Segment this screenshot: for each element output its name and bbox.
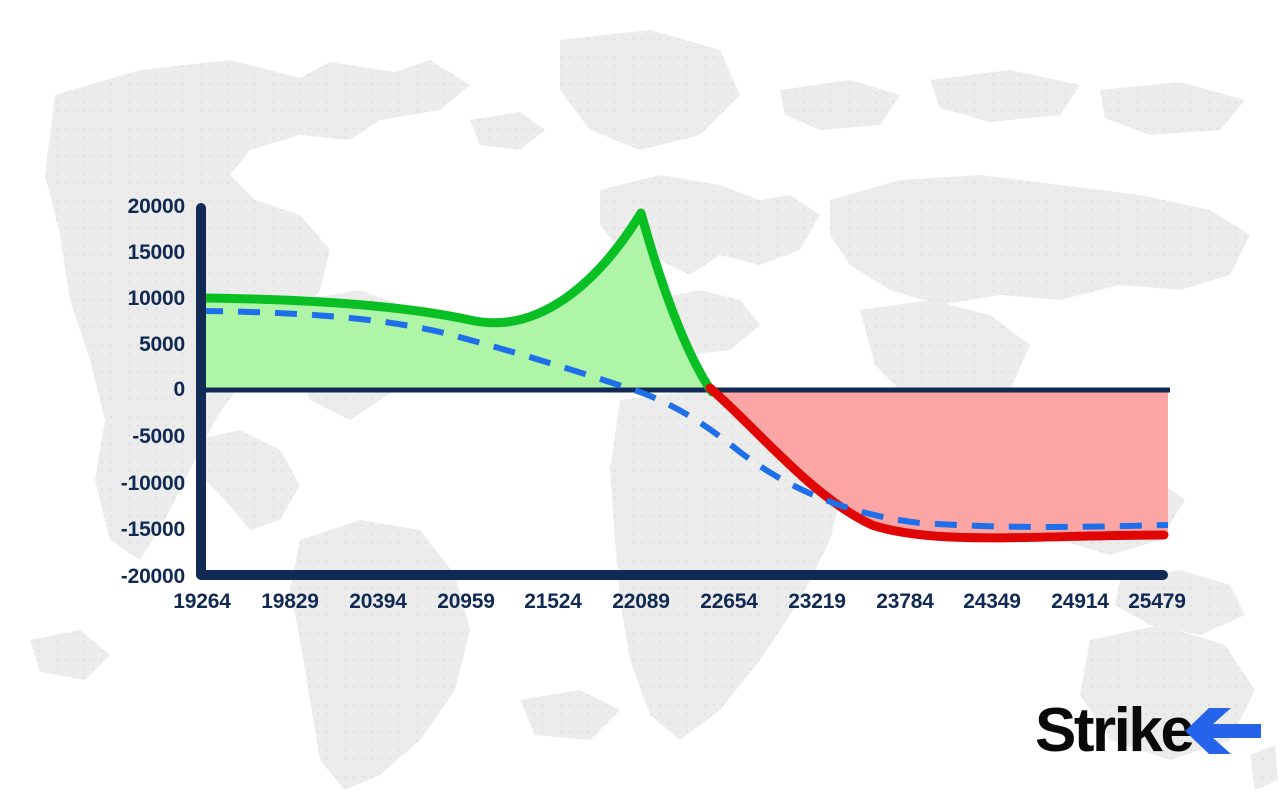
x-tick-label-24914: 24914: [1051, 590, 1108, 614]
x-tick-label-19264: 19264: [173, 590, 230, 614]
y-tick-label-minus20000: -20000: [10, 565, 185, 589]
y-tick-label-20000: 20000: [10, 195, 185, 219]
y-tick-label-15000: 15000: [10, 241, 185, 265]
y-axis-bar: [196, 203, 206, 579]
loss-area-fill: [712, 390, 1168, 538]
brand-wordmark: Strike: [1035, 697, 1192, 765]
y-tick-label-minus5000: -5000: [10, 425, 185, 449]
x-tick-label-21524: 21524: [524, 590, 581, 614]
x-tick-label-19829: 19829: [261, 590, 318, 614]
x-tick-label-22089: 22089: [612, 590, 669, 614]
y-tick-label-minus10000: -10000: [10, 472, 185, 496]
strike-logo: Strike: [1035, 697, 1255, 765]
x-tick-label-24349: 24349: [963, 590, 1020, 614]
x-tick-label-20959: 20959: [437, 590, 494, 614]
y-tick-label-0: 0: [10, 378, 185, 402]
chart-canvas: 20000 15000 10000 5000 0 -5000 -10000 -1…: [0, 0, 1280, 800]
x-tick-label-23219: 23219: [788, 590, 845, 614]
x-tick-label-23784: 23784: [876, 590, 933, 614]
x-tick-label-20394: 20394: [349, 590, 406, 614]
left-arrow-icon: [1183, 708, 1261, 754]
y-tick-label-10000: 10000: [10, 287, 185, 311]
y-tick-label-5000: 5000: [10, 333, 185, 357]
x-axis-bar: [196, 570, 1168, 580]
payoff-diagram: [0, 0, 1280, 800]
y-tick-label-minus15000: -15000: [10, 518, 185, 542]
x-tick-label-22654: 22654: [700, 590, 757, 614]
x-tick-label-25479: 25479: [1128, 590, 1185, 614]
